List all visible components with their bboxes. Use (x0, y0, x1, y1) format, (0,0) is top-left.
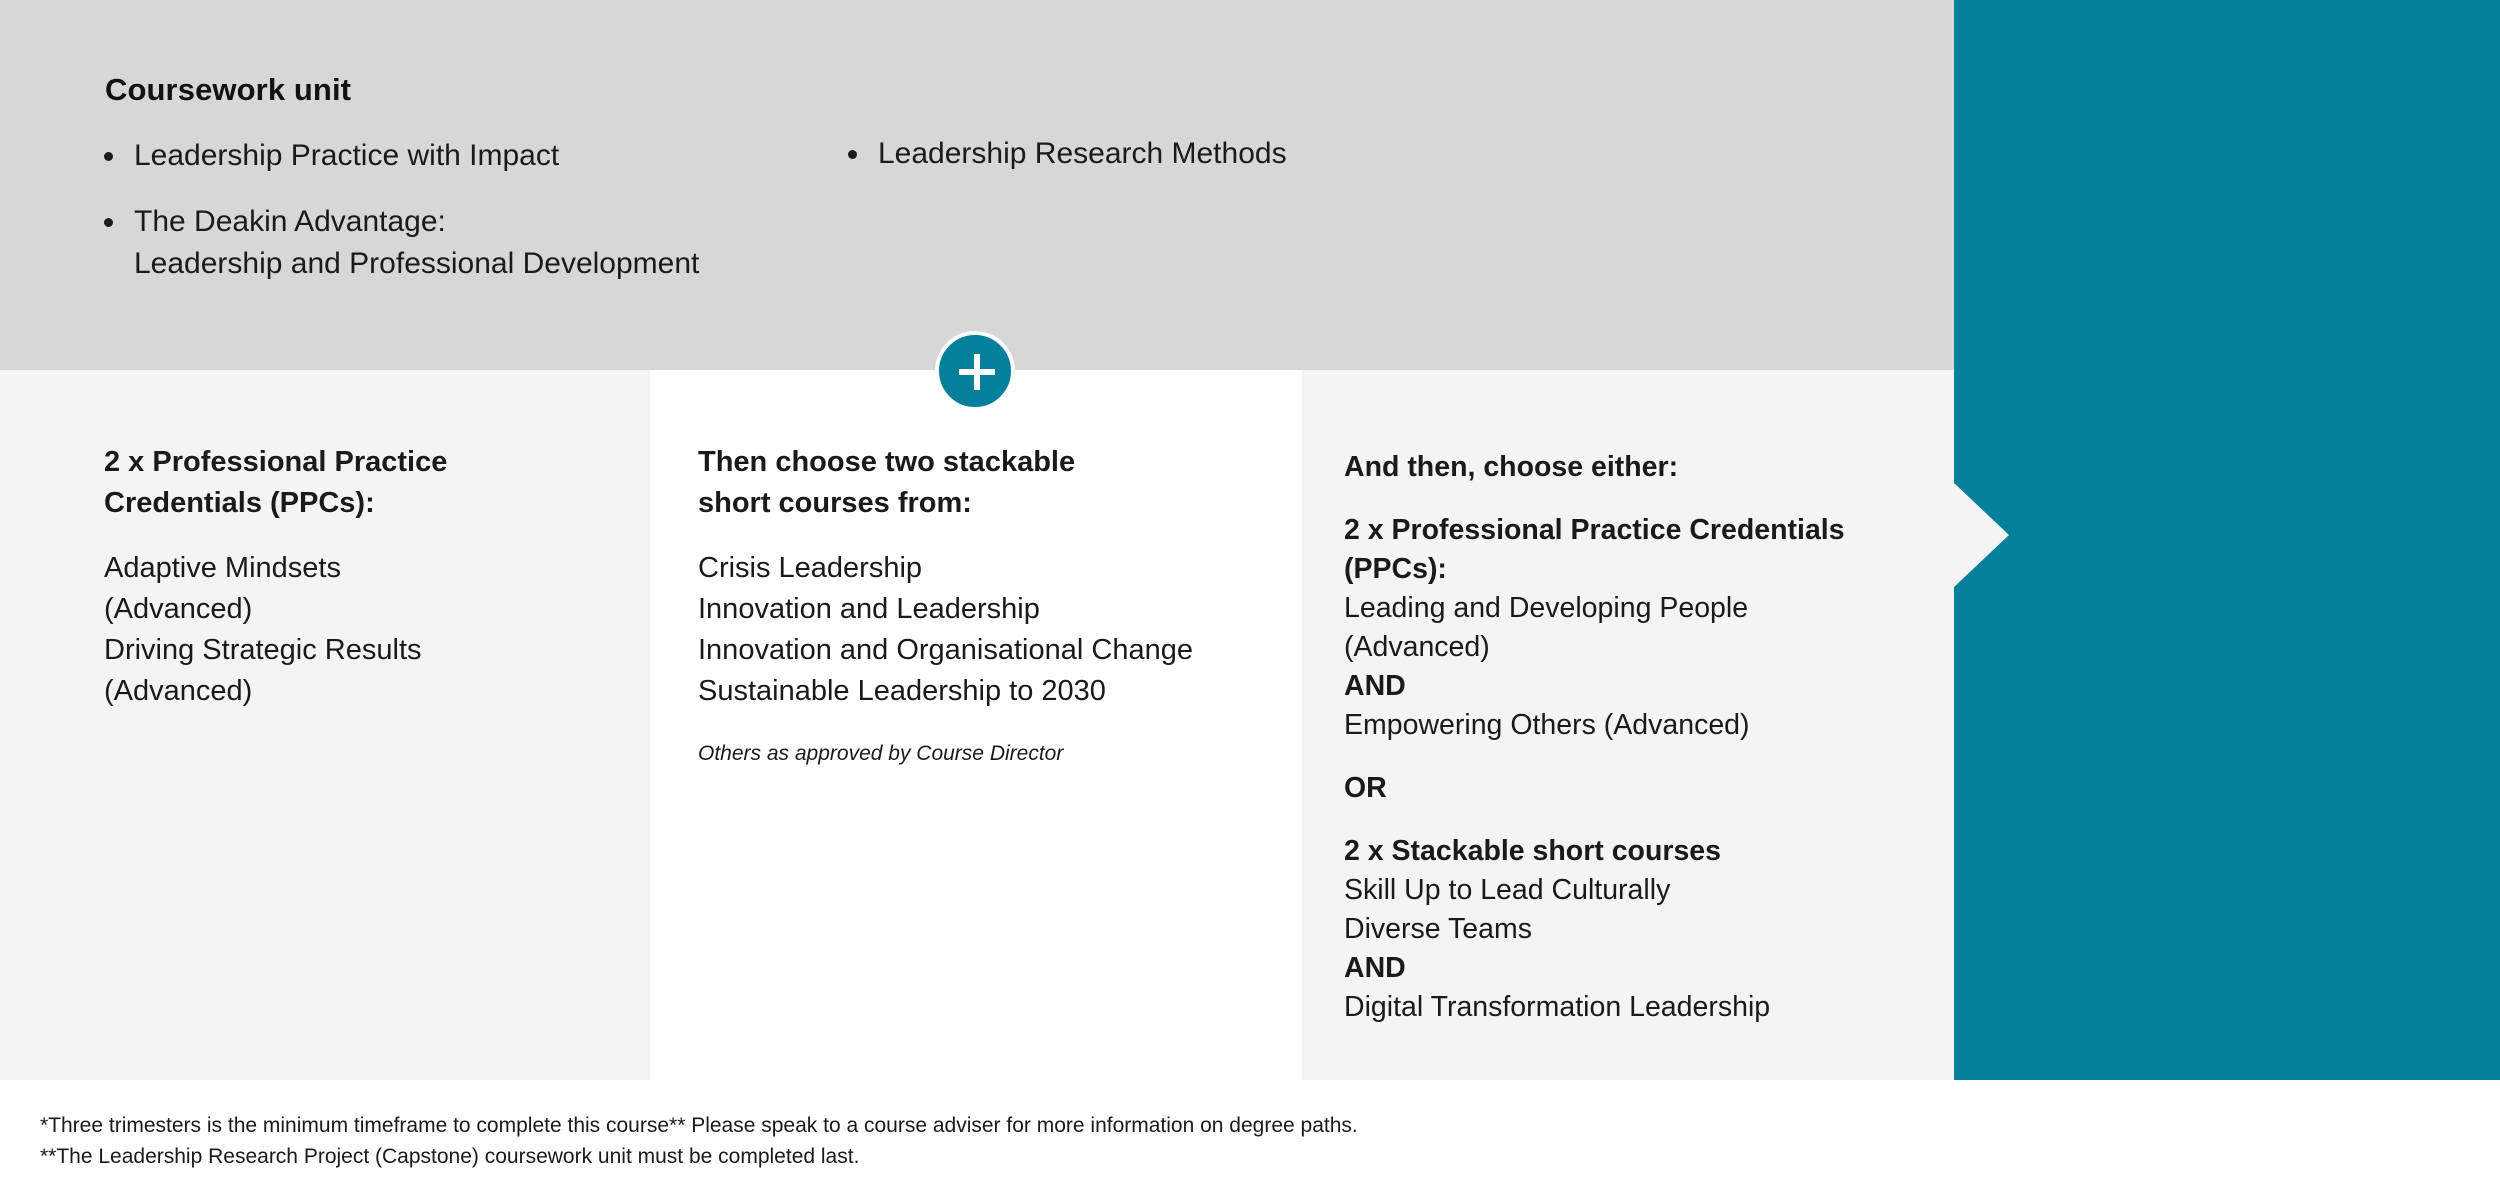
spacer (1344, 745, 1914, 769)
band-bullet-item: Leadership Practice with Impact (104, 135, 559, 177)
spacer (1344, 487, 1914, 511)
chevron-right-notch-icon (1954, 483, 2009, 587)
band-bullet-item: Leadership Research Methods (848, 133, 1287, 175)
band-title: Coursework unit (105, 72, 351, 108)
infographic-canvas: Coursework unit Leadership Practice with… (0, 0, 2500, 1192)
plus-badge-icon (935, 331, 1015, 411)
option-a-item-1: Leading and Developing People (Advanced) (1344, 589, 1914, 667)
option-b-connector: AND (1344, 949, 1914, 988)
band-bullet-label: Leadership Research Methods (878, 133, 1287, 175)
footnote-item: *Three trimesters is the minimum timefra… (40, 1110, 2340, 1141)
plus-horizontal-bar (959, 369, 995, 375)
bullet-dot-icon (104, 152, 113, 161)
capstone-panel: Coursework unit Leadership Research Proj… (1954, 0, 2500, 1080)
spacer (1344, 808, 1914, 832)
column-3-content: And then, choose either: 2 x Professiona… (1302, 370, 1954, 1080)
column-2-body: Crisis Leadership Innovation and Leaders… (698, 548, 1262, 712)
band-bullet-item: The Deakin Advantage: Leadership and Pro… (104, 201, 699, 285)
coursework-unit-band: Coursework unit Leadership Practice with… (0, 0, 1954, 370)
option-divider: OR (1344, 769, 1914, 808)
bullet-dot-icon (104, 218, 113, 227)
column-2-content: Then choose two stackable short courses … (650, 370, 1302, 1080)
band-bullet-label: Leadership Practice with Impact (134, 135, 559, 177)
column-2-note: Others as approved by Course Director (698, 739, 1262, 769)
option-a-heading: 2 x Professional Practice Credentials (P… (1344, 511, 1914, 589)
column-3-heading: And then, choose either: (1344, 448, 1914, 487)
option-b-item-2: Digital Transformation Leadership (1344, 988, 1914, 1027)
column-choose-either: And then, choose either: 2 x Professiona… (1302, 370, 1954, 1080)
column-2-heading: Then choose two stackable short courses … (698, 442, 1262, 524)
column-1-heading: 2 x Professional Practice Credentials (P… (104, 442, 602, 524)
option-a-item-2: Empowering Others (Advanced) (1344, 706, 1914, 745)
column-ppc-pair: 2 x Professional Practice Credentials (P… (0, 370, 650, 1080)
spacer (698, 524, 1262, 548)
column-stackable-courses: Then choose two stackable short courses … (650, 370, 1302, 1080)
option-a-connector: AND (1344, 667, 1914, 706)
bullet-dot-icon (848, 150, 857, 159)
footnote-item: **The Leadership Research Project (Capst… (40, 1141, 2340, 1172)
column-1-body: Adaptive Mindsets (Advanced) Driving Str… (104, 548, 602, 712)
footnotes: *Three trimesters is the minimum timefra… (40, 1110, 2340, 1172)
spacer (104, 524, 602, 548)
column-1-content: 2 x Professional Practice Credentials (P… (0, 370, 650, 1080)
option-b-heading: 2 x Stackable short courses (1344, 832, 1914, 871)
option-b-item-1: Skill Up to Lead Culturally Diverse Team… (1344, 871, 1914, 949)
band-bullet-label: The Deakin Advantage: Leadership and Pro… (134, 201, 699, 285)
